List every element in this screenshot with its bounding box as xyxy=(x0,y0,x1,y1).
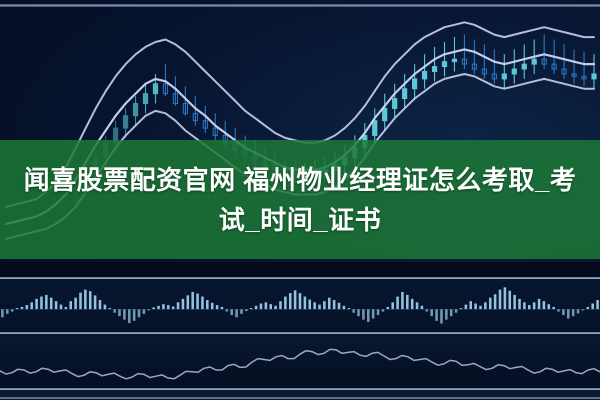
macd-histogram-panel xyxy=(0,279,600,334)
banner-image: 闻喜股票配资官网 福州物业经理证怎么考取_考试_时间_证书 xyxy=(0,0,600,400)
momentum-line-panel xyxy=(0,334,600,390)
momentum-line-chart xyxy=(0,334,600,390)
chart-bottom-divider xyxy=(0,397,600,399)
macd-histogram-chart xyxy=(0,279,600,334)
banner-title-container: 闻喜股票配资官网 福州物业经理证怎么考取_考试_时间_证书 xyxy=(0,140,600,259)
page-title: 闻喜股票配资官网 福州物业经理证怎么考取_考试_时间_证书 xyxy=(14,160,586,240)
chart-top-divider xyxy=(0,4,600,7)
